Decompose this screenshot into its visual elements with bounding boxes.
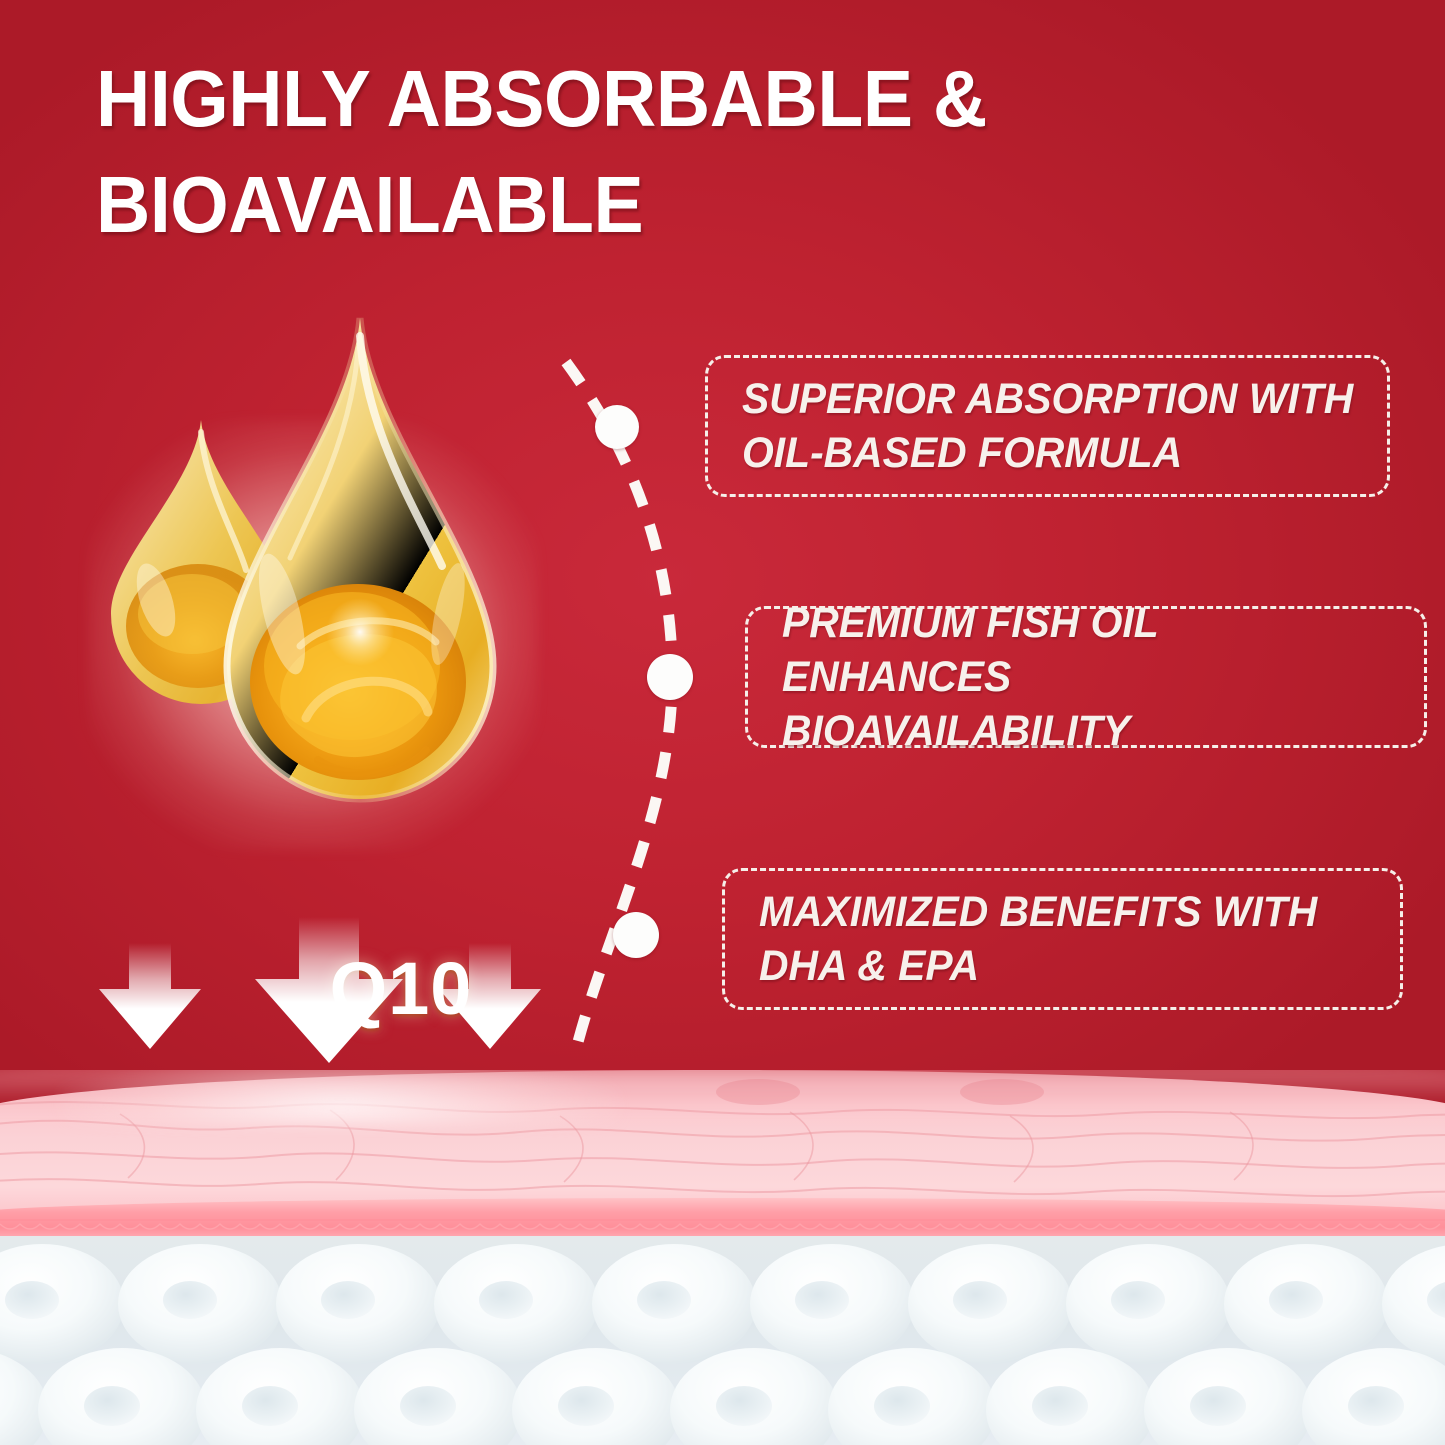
arrow-down-icon-center xyxy=(250,915,408,1072)
oil-droplet-icon-primary xyxy=(210,314,510,884)
callout-premium-fish-oil[interactable]: PREMIUM FISH OIL ENHANCES BIOAVAILABILIT… xyxy=(745,606,1427,748)
arrow-down-icon-left xyxy=(95,941,205,1058)
connector-dot-1 xyxy=(595,405,639,449)
connector-dot-2 xyxy=(647,654,693,700)
oil-droplet-group: Q10 xyxy=(78,300,548,890)
infographic-poster: HIGHLY ABSORBABLE & BIOAVAILABLE xyxy=(0,0,1445,1445)
callout-text-3: MAXIMIZED BENEFITS WITH DHA & EPA xyxy=(759,885,1317,993)
callout-text-2: PREMIUM FISH OIL ENHANCES BIOAVAILABILIT… xyxy=(782,596,1392,759)
connector-dot-3 xyxy=(613,912,659,958)
callout-text-1: SUPERIOR ABSORPTION WITH OIL-BASED FORMU… xyxy=(742,372,1353,480)
callout-superior-absorption[interactable]: SUPERIOR ABSORPTION WITH OIL-BASED FORMU… xyxy=(705,355,1390,497)
page-title: HIGHLY ABSORBABLE & BIOAVAILABLE xyxy=(96,46,1327,257)
cell-disc-group xyxy=(0,1236,1445,1445)
absorption-impact-glow xyxy=(60,1070,620,1126)
callout-maximized-benefits[interactable]: MAXIMIZED BENEFITS WITH DHA & EPA xyxy=(722,868,1403,1010)
page-title-line-2: BIOAVAILABLE xyxy=(96,152,1327,258)
arrow-down-icon-right xyxy=(435,941,545,1058)
skin-cross-section-icon xyxy=(0,1070,1445,1445)
page-title-line-1: HIGHLY ABSORBABLE & xyxy=(96,46,1327,152)
absorption-arrow-group xyxy=(95,915,550,1065)
